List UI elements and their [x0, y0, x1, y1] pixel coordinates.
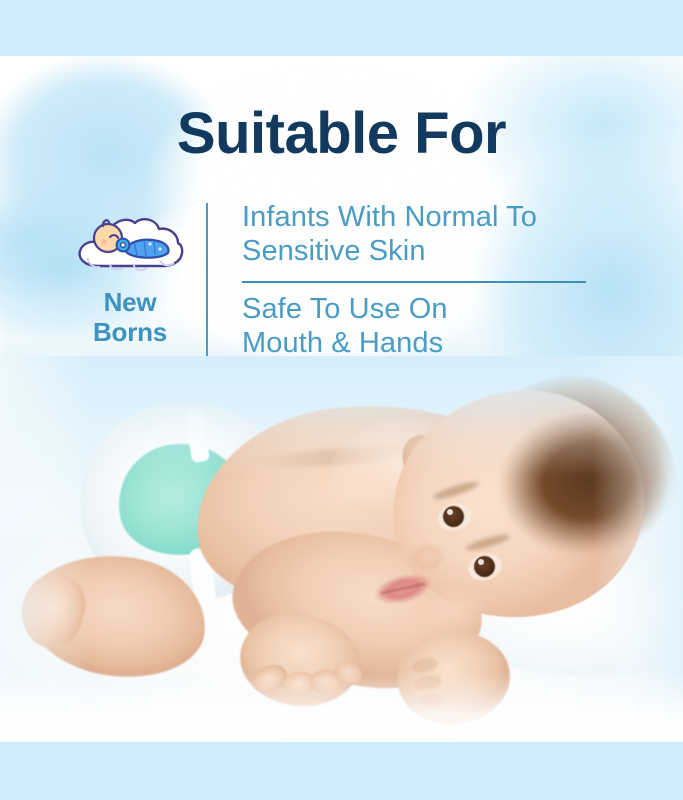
baby-photo: [0, 356, 683, 742]
page-title: Suitable For: [0, 104, 683, 165]
claim-item-mouth-and-hands: Safe To Use On Mouth & Hands: [242, 292, 448, 360]
promo-banner: Suitable For: [0, 0, 683, 800]
top-color-band: [0, 0, 683, 56]
baby-iris: [443, 506, 464, 527]
claim-0-line2: Sensitive Skin: [242, 234, 537, 268]
bottom-color-band: [0, 742, 683, 800]
newborns-badge-label: New Borns: [60, 288, 200, 348]
vertical-divider: [206, 203, 208, 358]
horizontal-divider: [242, 281, 586, 283]
newborns-badge-label-line1: New: [104, 287, 157, 317]
claim-0-line1: Infants With Normal To: [242, 201, 537, 233]
claim-1-line1: Safe To Use On: [242, 293, 448, 325]
baby-cheek: [420, 581, 490, 637]
baby-iris: [474, 556, 495, 577]
eye-highlight: [447, 509, 453, 515]
newborns-badge-label-line2: Borns: [60, 318, 200, 348]
baby-nose: [412, 544, 446, 574]
claim-item-sensitive-skin: Infants With Normal To Sensitive Skin: [242, 200, 537, 268]
eye-highlight: [478, 559, 484, 565]
sleeping-baby-on-cloud-icon: [74, 208, 186, 274]
newborns-badge: New Borns: [60, 208, 200, 348]
